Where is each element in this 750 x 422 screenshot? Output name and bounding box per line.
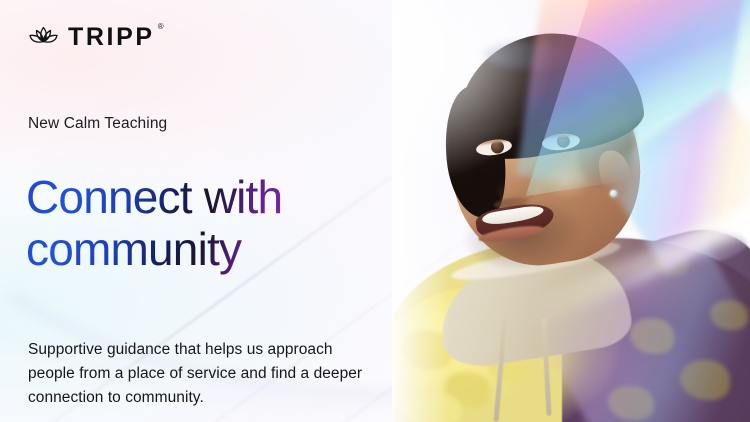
page-title: Connect withcommunity xyxy=(26,172,356,276)
lotus-icon xyxy=(28,24,59,50)
headline-line-1: Connect with xyxy=(26,171,282,223)
hero-banner: TRIPP ® New Calm Teaching Connect withco… xyxy=(0,0,750,422)
body-copy: Supportive guidance that helps us approa… xyxy=(28,338,378,410)
tiedye-blotch xyxy=(710,300,748,330)
brand-logo[interactable]: TRIPP ® xyxy=(28,24,155,50)
hero-photo xyxy=(392,0,750,422)
eyebrow-label: New Calm Teaching xyxy=(28,115,167,133)
subject-earring xyxy=(610,190,617,197)
hero-photo-subject xyxy=(392,0,750,422)
brand-name: TRIPP xyxy=(68,23,155,51)
brand-wordmark: TRIPP ® xyxy=(68,25,155,50)
headline-line-2: community xyxy=(26,223,241,275)
subject-hair-sheen xyxy=(484,42,570,68)
trademark-symbol: ® xyxy=(158,23,164,31)
hero-content: TRIPP ® New Calm Teaching Connect withco… xyxy=(0,0,420,422)
